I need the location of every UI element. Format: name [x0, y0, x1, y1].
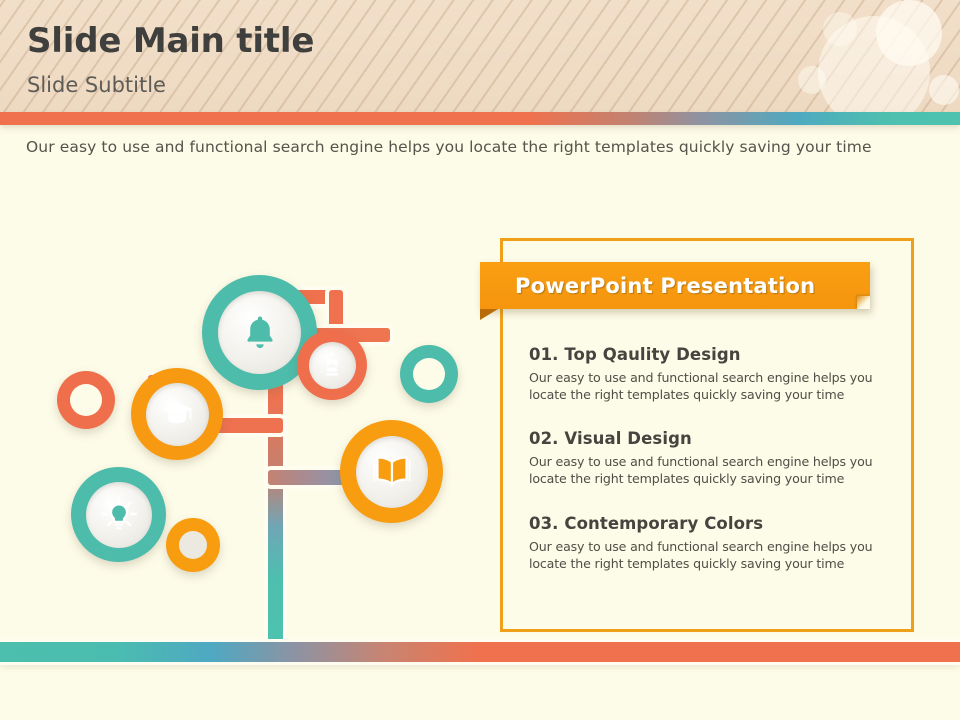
page-title: Slide Main title	[27, 24, 314, 58]
graduation-cap-icon	[160, 399, 194, 429]
tree-branch-upper-right-riser	[329, 290, 343, 330]
node-candle-inner	[309, 342, 356, 389]
node-graduation-cap[interactable]	[131, 368, 223, 460]
banner-fold-icon	[480, 309, 498, 320]
node-candle[interactable]	[297, 330, 367, 400]
node-open-book[interactable]	[340, 420, 443, 523]
bell-icon	[239, 312, 281, 354]
bokeh-circle-icon	[823, 12, 857, 46]
banner-curl-icon	[857, 296, 870, 309]
footer-accent-bar	[0, 642, 960, 662]
feature-description: Our easy to use and functional search en…	[529, 454, 895, 487]
node-open-book-inner	[356, 436, 428, 508]
node-plain-ring-orange-inner	[179, 531, 207, 559]
presentation-banner[interactable]: PowerPoint Presentation	[480, 262, 870, 309]
node-plain-ring-coral[interactable]	[57, 371, 115, 429]
node-plain-ring-orange[interactable]	[166, 518, 220, 572]
feature-item: 03. Contemporary Colors Our easy to use …	[529, 514, 899, 572]
feature-item: 02. Visual Design Our easy to use and fu…	[529, 429, 899, 487]
bokeh-circle-icon	[876, 0, 942, 66]
node-plain-ring-teal-inner	[413, 358, 445, 390]
node-lightbulb[interactable]	[71, 467, 166, 562]
feature-description: Our easy to use and functional search en…	[529, 370, 895, 403]
feature-item: 01. Top Qaulity Design Our easy to use a…	[529, 345, 899, 403]
node-plain-ring-coral-inner	[70, 384, 102, 416]
slide-canvas: Slide Main title Slide Subtitle Our easy…	[0, 0, 960, 720]
feature-title: 02. Visual Design	[529, 429, 899, 448]
tree-infographic	[0, 170, 480, 670]
node-graduation-cap-inner	[146, 383, 209, 446]
feature-title: 03. Contemporary Colors	[529, 514, 899, 533]
node-bell-inner	[218, 291, 301, 374]
presentation-banner-label: PowerPoint Presentation	[515, 274, 815, 298]
feature-title: 01. Top Qaulity Design	[529, 345, 899, 364]
lightbulb-icon	[99, 495, 139, 535]
page-subtitle: Slide Subtitle	[27, 75, 166, 96]
header-accent-bar	[0, 112, 960, 125]
bokeh-circle-icon	[929, 75, 959, 105]
feature-description: Our easy to use and functional search en…	[529, 539, 895, 572]
bokeh-circle-icon	[798, 66, 826, 94]
intro-paragraph: Our easy to use and functional search en…	[26, 138, 872, 156]
feature-list: 01. Top Qaulity Design Our easy to use a…	[529, 345, 899, 572]
node-plain-ring-teal[interactable]	[400, 345, 458, 403]
open-book-icon	[370, 454, 414, 490]
candle-icon	[320, 351, 344, 379]
node-lightbulb-inner	[86, 482, 152, 548]
